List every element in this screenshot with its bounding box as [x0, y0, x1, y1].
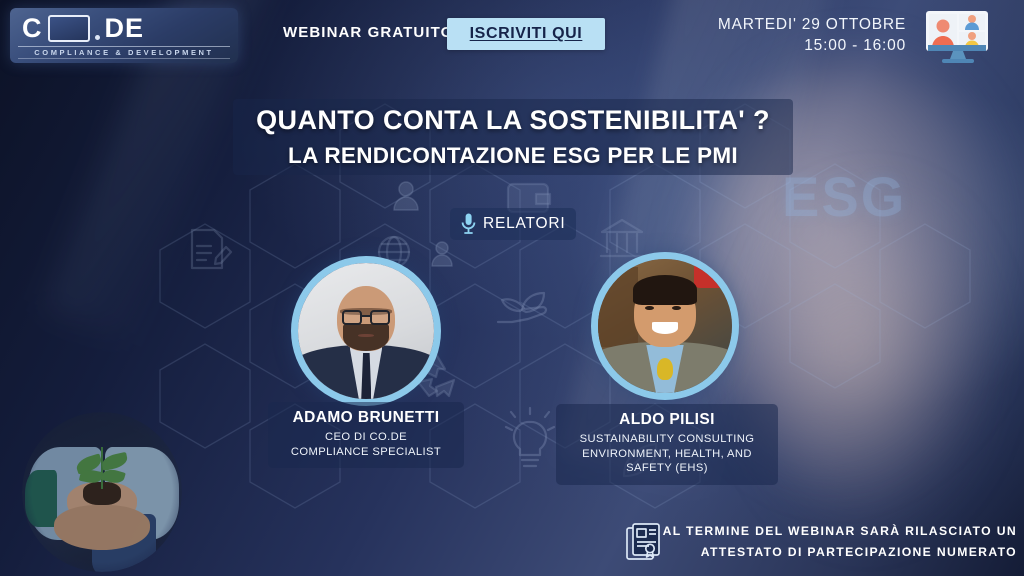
- logo-dot: [95, 35, 100, 40]
- document-pencil-icon: [192, 230, 231, 268]
- speaker-photo-1: [291, 256, 441, 406]
- event-datetime: MARTEDI' 29 OTTOBRE 15:00 - 16:00: [706, 14, 906, 56]
- people-icon: [394, 182, 418, 210]
- logo-wordmark: C DE: [18, 13, 230, 43]
- certificate-note: AL TERMINE DEL WEBINAR SARÀ RILASCIATO U…: [625, 521, 1017, 563]
- lightbulb-icon: [506, 408, 554, 466]
- certificate-note-line-1: AL TERMINE DEL WEBINAR SARÀ RILASCIATO U…: [625, 521, 1017, 542]
- people-icon-2: [432, 242, 452, 266]
- seedling-photo: [22, 412, 182, 572]
- title-line-2: LA RENDICONTAZIONE ESG PER LE PMI: [233, 143, 793, 169]
- speaker-card-1: ADAMO BRUNETTI CEO DI CO.DE COMPLIANCE S…: [268, 402, 464, 468]
- speakers-badge-label: RELATORI: [483, 215, 566, 233]
- hand-leaf-icon: [498, 293, 546, 322]
- esg-watermark: ESG: [782, 164, 906, 229]
- logo-letter-o-square: [48, 15, 90, 42]
- logo-letter-c: C: [22, 15, 43, 42]
- speaker-name-2: ALDO PILISI: [568, 411, 766, 429]
- speaker-role-1-line2: COMPLIANCE SPECIALIST: [280, 445, 452, 460]
- speaker-role-2-line2: ENVIRONMENT, HEALTH, AND: [568, 447, 766, 462]
- webinar-free-label: WEBINAR GRATUITO: [283, 24, 453, 41]
- register-button[interactable]: ISCRIVITI QUI: [447, 18, 605, 50]
- logo-tagline: COMPLIANCE & DEVELOPMENT: [18, 46, 230, 59]
- microphone-icon: [461, 213, 476, 235]
- speaker-name-1: ADAMO BRUNETTI: [280, 409, 452, 427]
- certificate-note-line-2: ATTESTATO DI PARTECIPAZIONE NUMERATO: [625, 542, 1017, 563]
- speaker-photo-2: [591, 252, 739, 400]
- background-hand-blur-2: [760, 200, 990, 530]
- webinar-poster: ESG C DE COMPLIANCE & DEVELOPMENT WEBINA…: [0, 0, 1024, 576]
- speaker-role-2-line1: SUSTAINABILITY CONSULTING: [568, 432, 766, 447]
- title-line-1: QUANTO CONTA LA SOSTENIBILITA' ?: [233, 105, 793, 136]
- video-conference-icon: [922, 9, 994, 65]
- speaker-card-2: ALDO PILISI SUSTAINABILITY CONSULTING EN…: [556, 404, 778, 485]
- brand-logo[interactable]: C DE COMPLIANCE & DEVELOPMENT: [10, 8, 238, 63]
- logo-letters-de: DE: [105, 15, 145, 42]
- speakers-badge: RELATORI: [450, 208, 576, 240]
- speaker-role-2-line3: SAFETY (EHS): [568, 461, 766, 476]
- speaker-role-1-line1: CEO DI CO.DE: [280, 430, 452, 445]
- event-date: MARTEDI' 29 OTTOBRE: [706, 14, 906, 35]
- register-button-label: ISCRIVITI QUI: [470, 25, 583, 43]
- event-time: 15:00 - 16:00: [706, 35, 906, 56]
